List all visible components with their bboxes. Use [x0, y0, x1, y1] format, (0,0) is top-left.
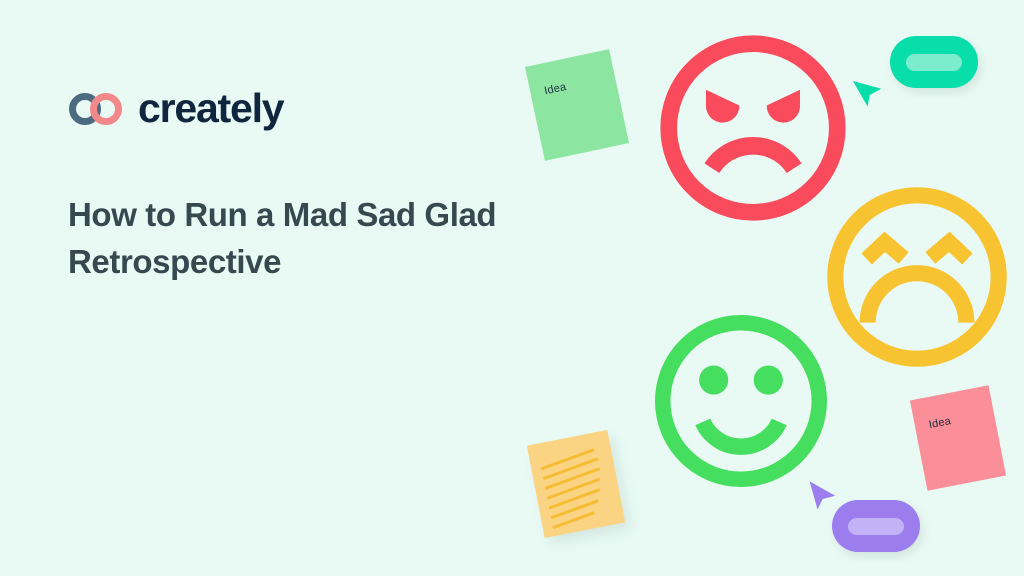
collaborator-cursor-purple[interactable]: [804, 478, 934, 556]
collaborator-label-fill: [906, 54, 962, 71]
sad-face-icon: [822, 182, 1012, 372]
sticky-note-label: Idea: [543, 81, 567, 97]
sticky-note-green[interactable]: Idea: [525, 49, 629, 161]
sticky-note-label: Idea: [928, 415, 952, 431]
collaborator-label-pill: [832, 500, 920, 552]
infinity-rings-icon: [68, 92, 124, 126]
sticky-note-pink[interactable]: Idea: [910, 385, 1006, 491]
collaborator-cursor-icon: [806, 477, 839, 512]
collaborator-label-fill: [848, 518, 904, 535]
collaborator-cursor-icon: [849, 70, 888, 110]
brand-logo[interactable]: creately: [68, 88, 283, 129]
lined-note-icon[interactable]: [527, 430, 625, 538]
page-title: How to Run a Mad Sad Glad Retrospective: [68, 192, 498, 286]
brand-name: creately: [138, 88, 283, 129]
collaborator-label-pill: [890, 36, 978, 88]
slide-canvas: creately How to Run a Mad Sad Glad Retro…: [0, 0, 1024, 576]
happy-face-icon: [650, 310, 832, 492]
note-lines: [527, 430, 625, 538]
collaborator-cursor-teal[interactable]: [852, 36, 982, 116]
